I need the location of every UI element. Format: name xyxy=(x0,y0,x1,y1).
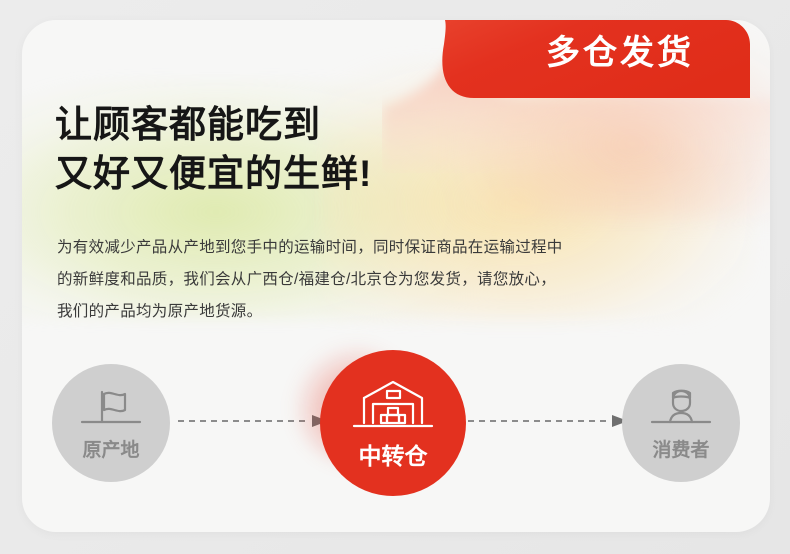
promo-banner-page: 多仓发货 让顾客都能吃到 又好又便宜的生鲜! 为有效减少产品从产地到您手中的运输… xyxy=(0,0,790,554)
description-paragraph: 为有效减少产品从产地到您手中的运输时间，同时保证商品在运输过程中 的新鲜度和品质… xyxy=(57,232,717,328)
flow-node-warehouse-label: 中转仓 xyxy=(359,445,428,468)
flow-node-origin: 原产地 xyxy=(52,364,170,482)
flow-node-consumer: 消费者 xyxy=(622,364,740,482)
promo-banner-label: 多仓发货 xyxy=(505,36,735,70)
warehouse-icon xyxy=(352,378,434,434)
headline-line-2: 又好又便宜的生鲜! xyxy=(55,149,372,198)
flow-connector-origin-to-warehouse xyxy=(178,414,330,428)
paragraph-line-1: 为有效减少产品从产地到您手中的运输时间，同时保证商品在运输过程中 xyxy=(57,232,717,264)
paragraph-line-3: 我们的产品均为原产地货源。 xyxy=(57,296,717,328)
flow-node-warehouse: 中转仓 xyxy=(320,350,466,496)
flow-node-consumer-label: 消费者 xyxy=(652,441,709,460)
person-icon xyxy=(650,386,712,432)
page-title: 让顾客都能吃到 又好又便宜的生鲜! xyxy=(55,100,372,198)
logistics-flow-diagram: 原产地 中转 xyxy=(0,348,790,498)
flag-icon xyxy=(80,386,142,432)
flow-connector-warehouse-to-consumer xyxy=(468,414,630,428)
flow-node-origin-label: 原产地 xyxy=(82,441,139,460)
headline-line-1: 让顾客都能吃到 xyxy=(55,100,372,149)
paragraph-line-2: 的新鲜度和品质，我们会从广西仓/福建仓/北京仓为您发货，请您放心， xyxy=(57,264,717,296)
